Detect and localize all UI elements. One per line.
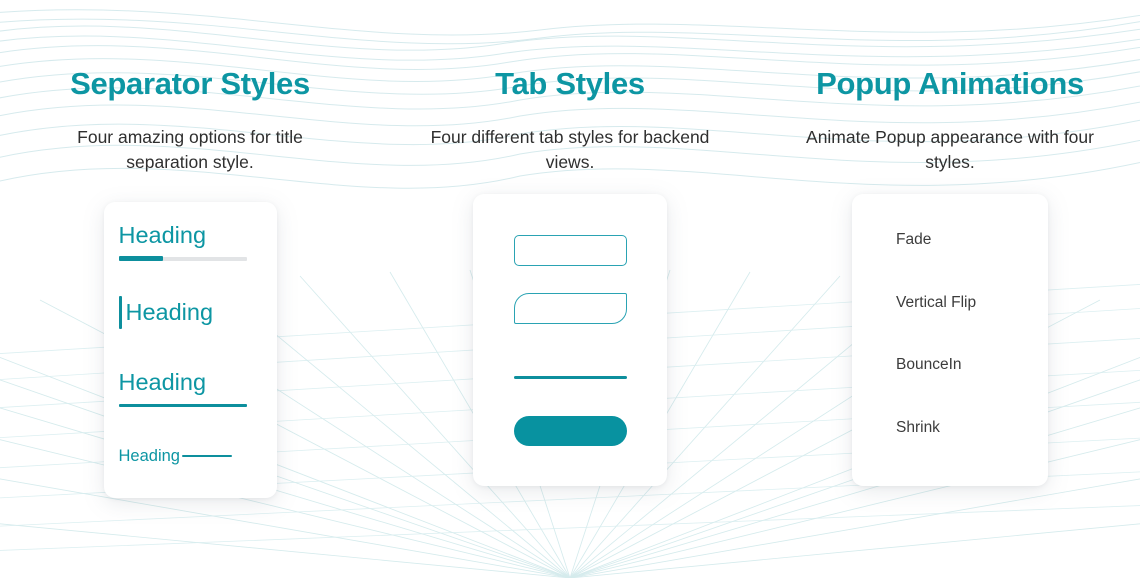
feature-columns: Separator Styles Four amazing options fo… [0, 0, 1140, 578]
column-tab-styles: Tab Styles Four different tab styles for… [380, 0, 760, 578]
tab-style-underline-bar[interactable] [514, 376, 627, 379]
column-title-popup-animations: Popup Animations [816, 66, 1084, 103]
popup-animation-item[interactable]: Shrink [896, 420, 1036, 436]
column-separator-styles: Separator Styles Four amazing options fo… [0, 0, 380, 578]
separator-style-full-underline[interactable]: Heading [119, 369, 247, 407]
column-subtitle-tab-styles: Four different tab styles for backend vi… [420, 125, 720, 176]
column-subtitle-popup-animations: Animate Popup appearance with four style… [800, 125, 1100, 176]
separator-heading-label: Heading [119, 447, 180, 465]
separator-heading-label: Heading [126, 299, 214, 325]
tab-style-filled-pill[interactable] [514, 416, 627, 446]
separator-vertical-bar [119, 296, 122, 329]
tab-style-rounded-rectangle[interactable] [514, 235, 627, 266]
column-popup-animations: Popup Animations Animate Popup appearanc… [760, 0, 1140, 578]
tab-style-leaf-corner[interactable] [514, 293, 627, 324]
separator-styles-card: Heading Heading Heading Heading [104, 202, 277, 498]
tab-styles-card [473, 194, 667, 486]
popup-animations-card: Fade Vertical Flip BounceIn Shrink [852, 194, 1048, 486]
separator-split-rule [119, 257, 247, 261]
separator-style-split-rule[interactable]: Heading [119, 222, 247, 261]
separator-full-rule [119, 404, 247, 407]
popup-animation-item[interactable]: Fade [896, 232, 1036, 248]
popup-animation-item[interactable]: Vertical Flip [896, 295, 1036, 311]
separator-style-left-bar[interactable]: Heading [119, 296, 214, 329]
separator-heading-label: Heading [119, 369, 247, 395]
column-title-tab-styles: Tab Styles [495, 66, 645, 103]
separator-style-inline-line[interactable]: Heading [119, 447, 232, 465]
column-title-separator-styles: Separator Styles [70, 66, 310, 103]
separator-trailing-rule [182, 455, 232, 458]
column-subtitle-separator-styles: Four amazing options for title separatio… [40, 125, 340, 176]
popup-animation-item[interactable]: BounceIn [896, 357, 1036, 373]
popup-animation-list: Fade Vertical Flip BounceIn Shrink [896, 232, 1036, 435]
separator-heading-label: Heading [119, 222, 247, 248]
